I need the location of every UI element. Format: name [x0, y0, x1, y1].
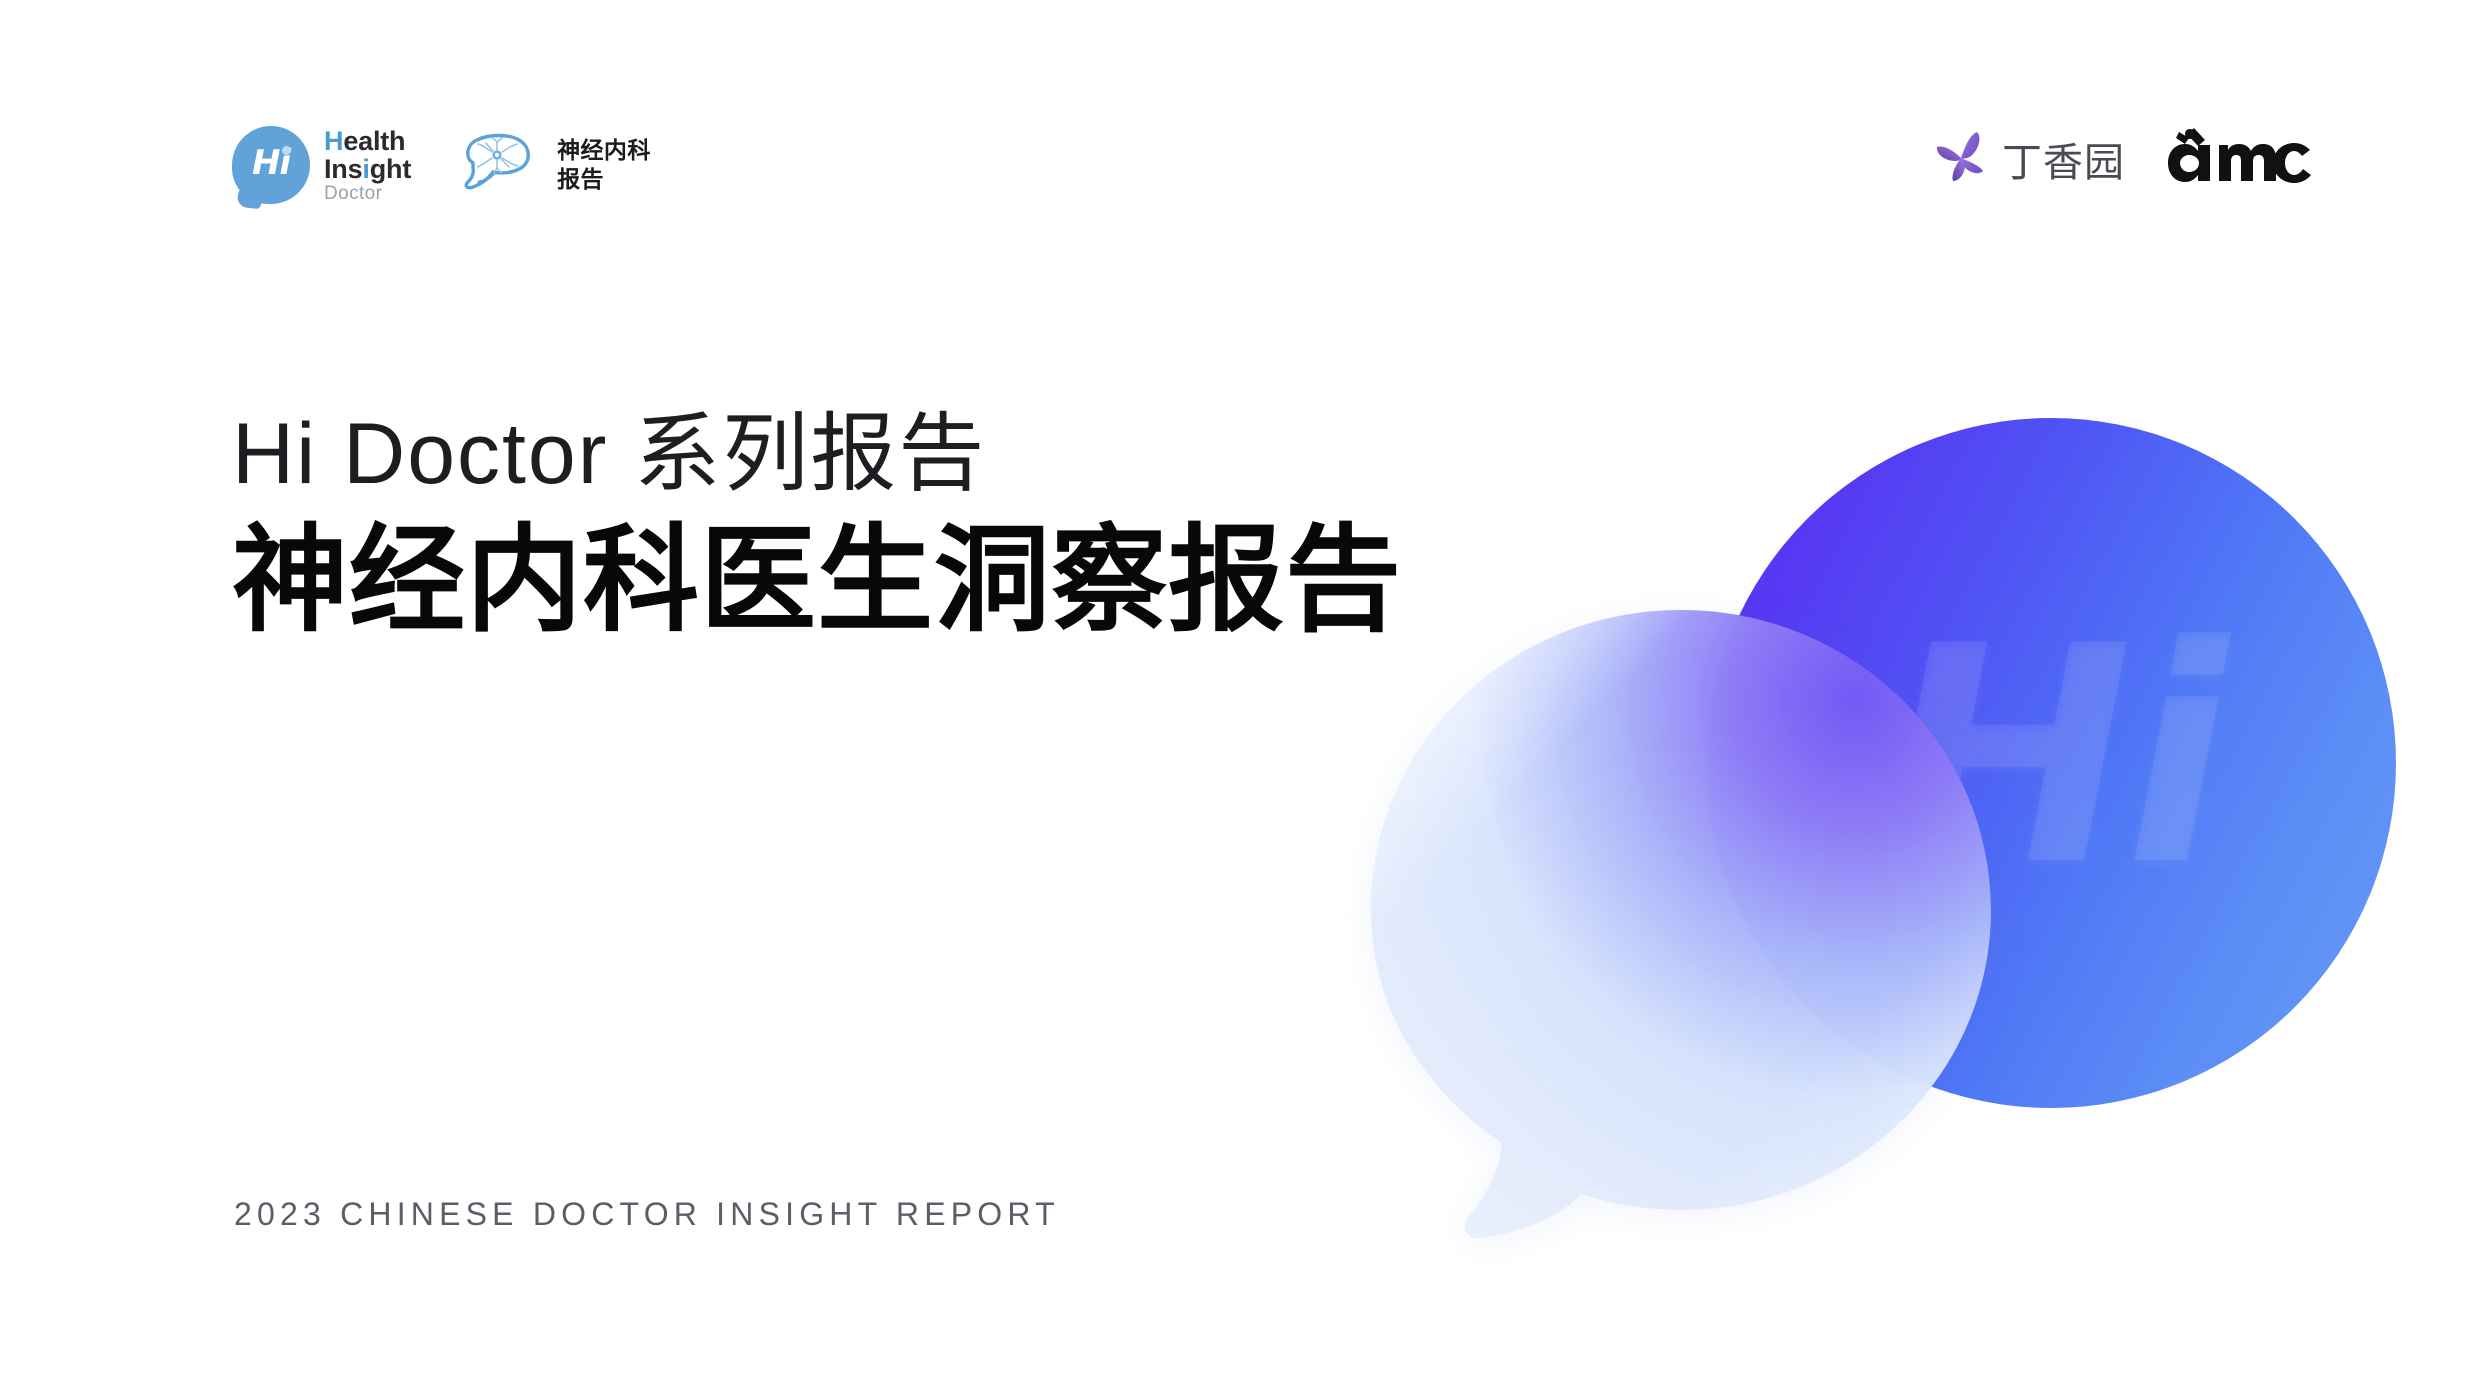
wordmark-health-h: H	[324, 126, 343, 156]
neurology-report-logo: 神经内科 报告	[457, 132, 651, 198]
cover-decorative-art: Hi	[1361, 0, 2481, 1395]
header-right-brands: 丁香园	[1930, 126, 2313, 192]
gradient-disc: Hi	[1706, 418, 2396, 1108]
frosted-bubble-surface	[1371, 610, 1991, 1250]
frosted-bubble-rim-highlight	[1371, 610, 1991, 1250]
hi-mark-i-dot	[282, 146, 291, 155]
wordmark-line-doctor: Doctor	[324, 184, 411, 204]
header-left-brands: Hi Health Insight Doctor	[232, 126, 651, 204]
disc-hi-watermark: Hi	[1882, 607, 2220, 907]
hi-speech-bubble-icon: Hi	[232, 126, 310, 204]
dxy-logo: 丁香园	[1930, 128, 2125, 190]
wordmark-insight-ght: ght	[370, 154, 411, 184]
dxy-butterfly-icon	[1930, 128, 1992, 190]
neurology-report-label: 神经内科 报告	[557, 136, 651, 194]
amc-wordmark-icon	[2163, 126, 2313, 192]
page-title-block: Hi Doctor 系列报告 神经内科医生洞察报告	[232, 406, 1402, 649]
wordmark-health-rest: ealth	[343, 126, 405, 156]
health-insight-wordmark: Health Insight Doctor	[324, 127, 411, 204]
health-insight-doctor-logo: Hi Health Insight Doctor	[232, 126, 411, 204]
neurology-label-line2: 报告	[557, 165, 651, 194]
wordmark-line-insight: Insight	[324, 155, 411, 183]
dxy-wordmark: 丁香园	[2002, 130, 2125, 188]
english-subtitle: 2023 CHINESE DOCTOR INSIGHT REPORT	[234, 1196, 1060, 1233]
report-cover-page: Hi Health Insight Doctor	[0, 0, 2481, 1395]
wordmark-insight-ins: Ins	[324, 154, 362, 184]
series-title: Hi Doctor 系列报告	[232, 406, 1402, 502]
neurology-label-line1: 神经内科	[557, 136, 651, 165]
page-title: 神经内科医生洞察报告	[232, 512, 1402, 649]
wordmark-insight-i: i	[362, 154, 369, 184]
frosted-speech-bubble	[1371, 610, 1991, 1250]
hi-mark-text: Hi	[232, 126, 310, 204]
brain-neuron-icon	[457, 132, 541, 198]
wordmark-line-health: Health	[324, 127, 411, 155]
